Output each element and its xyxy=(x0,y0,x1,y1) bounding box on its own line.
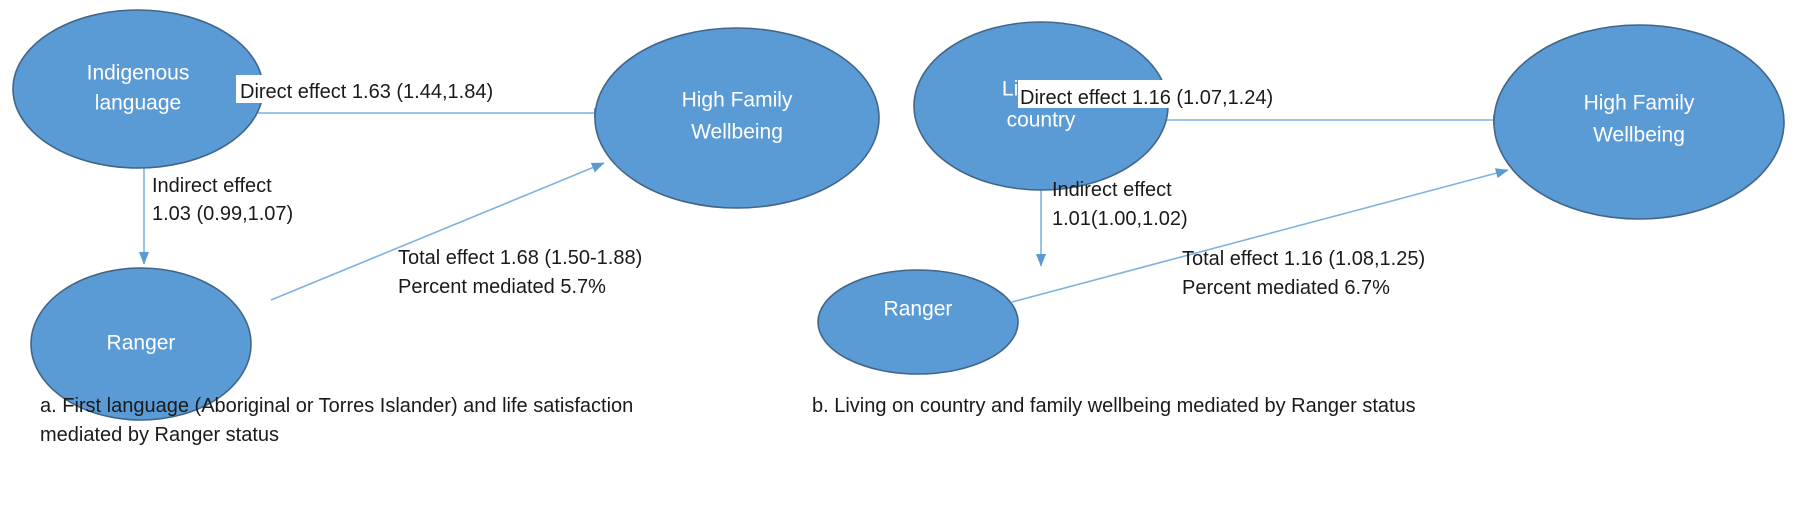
node-b-mediator[interactable] xyxy=(818,270,1018,374)
edge-b-total-label-line1: Total effect 1.16 (1.08,1.25) xyxy=(1182,248,1425,270)
node-b-outcome[interactable] xyxy=(1494,25,1784,219)
figure-canvas: Indigenous language High Family Wellbein… xyxy=(0,0,1799,524)
node-a-outcome-label-line1: High Family xyxy=(682,89,793,112)
node-b-outcome-label-line2: Wellbeing xyxy=(1593,124,1685,147)
node-a-outcome[interactable] xyxy=(595,28,879,208)
edge-b-indirect-label-line1: Indirect effect xyxy=(1052,179,1172,201)
node-b-outcome-label-line1: High Family xyxy=(1584,92,1695,115)
node-a-exposure[interactable] xyxy=(13,10,263,168)
node-a-outcome-label-line2: Wellbeing xyxy=(691,121,783,144)
edge-a-total-label-line1: Total effect 1.68 (1.50-1.88) xyxy=(398,247,642,269)
node-b-exposure-label-line2: country xyxy=(1007,109,1076,132)
caption-a-line1: a. First language (Aboriginal or Torres … xyxy=(40,395,633,417)
mediation-diagram: Indigenous language High Family Wellbein… xyxy=(0,0,1799,524)
node-a-mediator-label: Ranger xyxy=(107,332,176,355)
node-b-mediator-label: Ranger xyxy=(884,298,953,321)
caption-b-line1: b. Living on country and family wellbein… xyxy=(812,395,1416,417)
edge-a-indirect-label-line1: Indirect effect xyxy=(152,175,272,197)
edge-a-direct-label: Direct effect 1.63 (1.44,1.84) xyxy=(240,81,493,103)
node-a-exposure-label-line2: language xyxy=(95,92,181,115)
node-a-exposure-label-line1: Indigenous xyxy=(87,62,190,85)
panel-b: Lives on country High Family Wellbeing R… xyxy=(812,22,1784,417)
caption-a-line2: mediated by Ranger status xyxy=(40,424,279,446)
edge-b-total-label-line2: Percent mediated 6.7% xyxy=(1182,277,1390,299)
panel-a: Indigenous language High Family Wellbein… xyxy=(13,10,879,446)
edge-a-total-label-line2: Percent mediated 5.7% xyxy=(398,276,606,298)
edge-b-indirect-label-line2: 1.01(1.00,1.02) xyxy=(1052,208,1188,230)
edge-a-indirect-label-line2: 1.03 (0.99,1.07) xyxy=(152,203,293,225)
edge-b-direct-label: Direct effect 1.16 (1.07,1.24) xyxy=(1020,87,1273,109)
